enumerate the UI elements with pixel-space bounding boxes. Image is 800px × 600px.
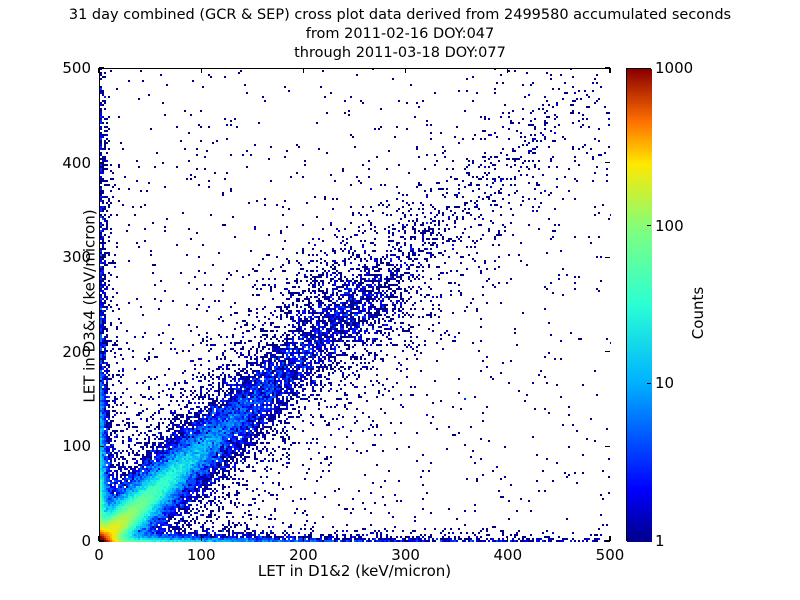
x-tick-mark-top bbox=[405, 68, 406, 73]
x-axis-label: LET in D1&2 (keV/micron) bbox=[99, 562, 610, 580]
colorbar-tick-label: 100 bbox=[655, 217, 684, 235]
colorbar-tick-label: 1 bbox=[655, 532, 665, 550]
colorbar bbox=[626, 68, 651, 541]
y-tick-mark bbox=[99, 351, 104, 352]
y-tick-mark-right bbox=[605, 257, 610, 258]
y-tick-mark bbox=[99, 67, 104, 68]
y-axis-label: LET in D3&4 (keV/micron) bbox=[81, 70, 99, 543]
y-tick-mark-right bbox=[605, 540, 610, 541]
title-line-1: 31 day combined (GCR & SEP) cross plot d… bbox=[0, 6, 800, 25]
x-tick-mark bbox=[405, 536, 406, 541]
colorbar-tick-mark bbox=[647, 383, 651, 384]
x-tick-mark bbox=[303, 536, 304, 541]
figure-root: 31 day combined (GCR & SEP) cross plot d… bbox=[0, 0, 800, 600]
plot-axes bbox=[99, 68, 610, 541]
colorbar-tick-label: 1000 bbox=[655, 59, 693, 77]
x-tick-mark bbox=[201, 536, 202, 541]
x-tick-mark bbox=[507, 536, 508, 541]
y-tick-mark bbox=[99, 446, 104, 447]
y-tick-mark-right bbox=[605, 67, 610, 68]
y-tick-mark bbox=[99, 162, 104, 163]
y-tick-mark bbox=[99, 540, 104, 541]
y-tick-mark-right bbox=[605, 446, 610, 447]
plot-title: 31 day combined (GCR & SEP) cross plot d… bbox=[0, 6, 800, 63]
colorbar-label: Counts bbox=[689, 218, 707, 408]
colorbar-tick-mark bbox=[647, 225, 651, 226]
y-tick-mark-right bbox=[605, 162, 610, 163]
x-tick-mark-top bbox=[98, 68, 99, 73]
y-tick-mark bbox=[99, 257, 104, 258]
colorbar-canvas bbox=[627, 69, 652, 542]
x-tick-mark-top bbox=[303, 68, 304, 73]
x-tick-mark-top bbox=[507, 68, 508, 73]
x-tick-mark-top bbox=[201, 68, 202, 73]
y-tick-mark-right bbox=[605, 351, 610, 352]
histogram-canvas bbox=[100, 69, 611, 542]
colorbar-tick-label: 10 bbox=[655, 374, 674, 392]
title-line-2: from 2011-02-16 DOY:047 bbox=[0, 25, 800, 44]
x-tick-mark-top bbox=[609, 68, 610, 73]
